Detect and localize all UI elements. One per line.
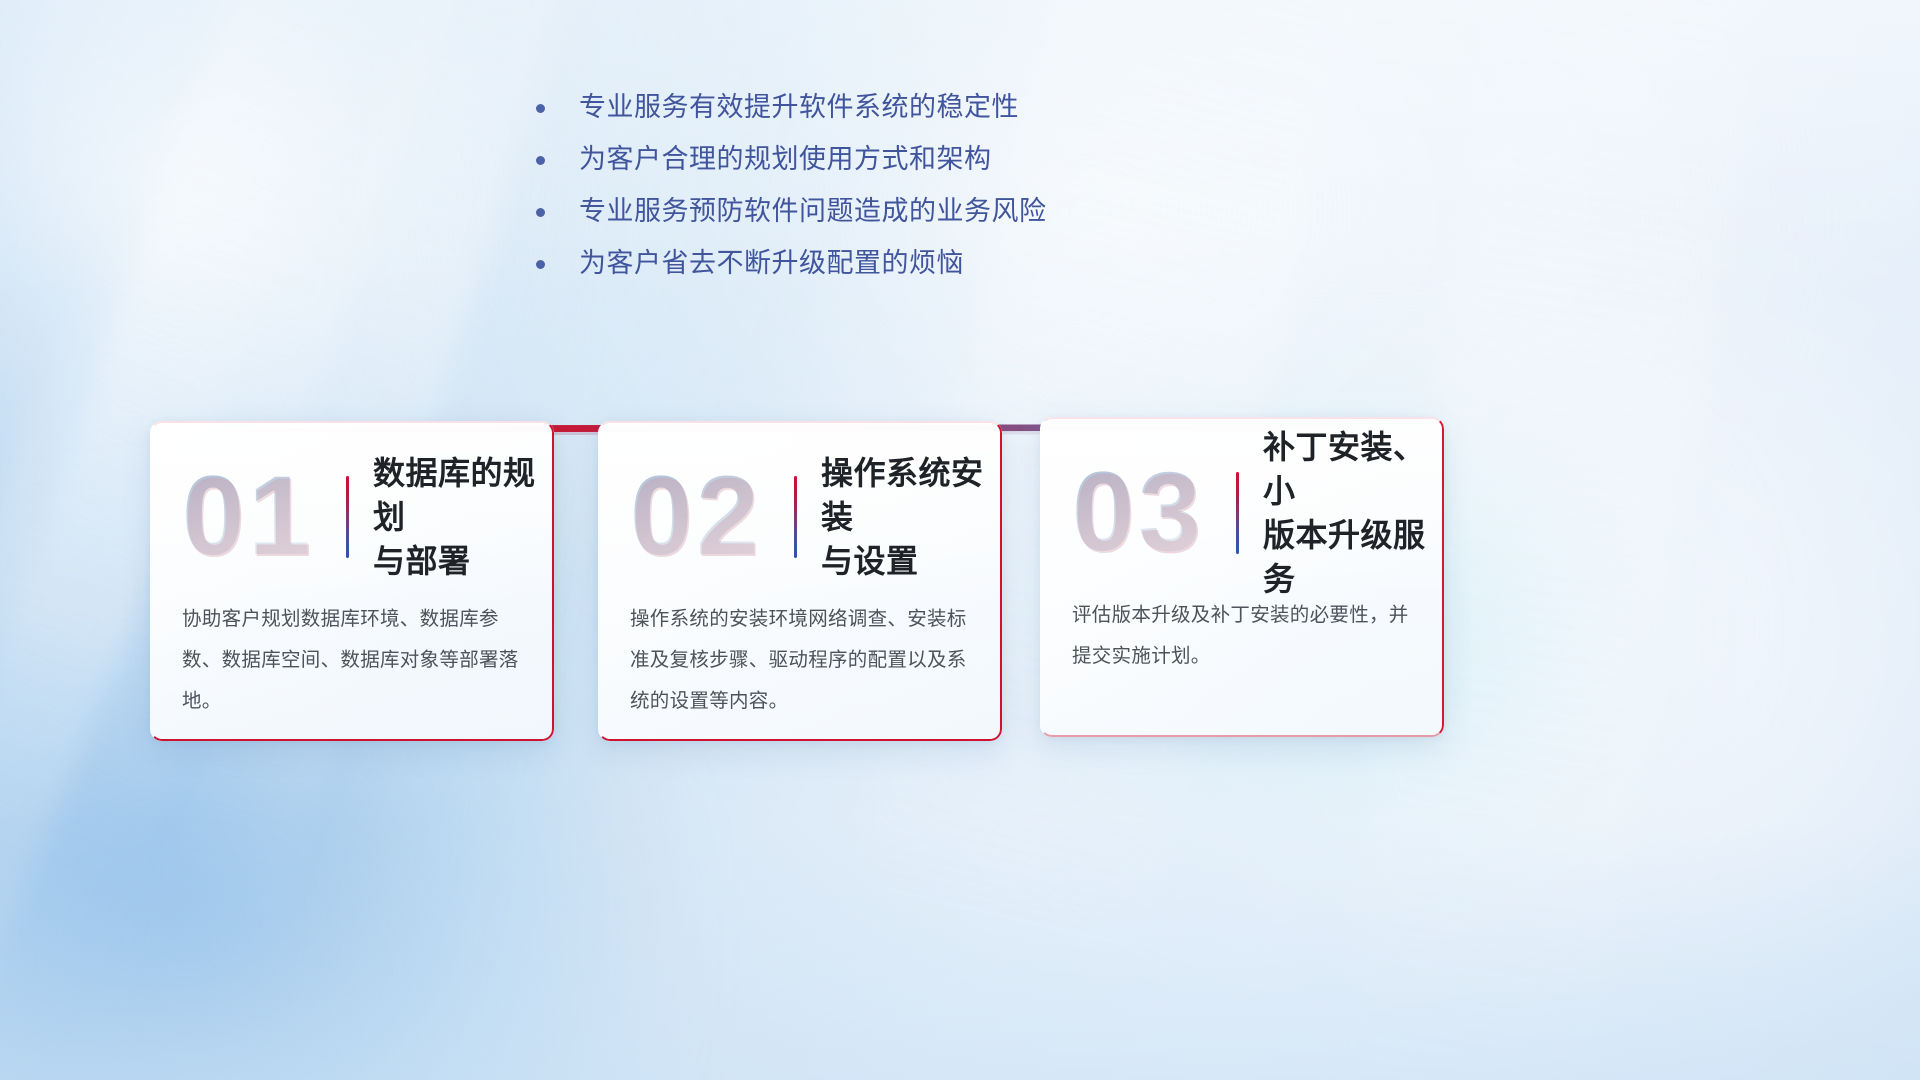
card-body-text: 操作系统的安装环境网络调查、安装标准及复核步骤、驱动程序的配置以及系统的设置等内…	[630, 599, 976, 722]
card-number-watermark: 02 02	[628, 462, 780, 572]
service-card-02[interactable]: 02 02 操作系统安装 与设置 操作系统的安装环境网络调查、安装标准及复核步骤…	[598, 421, 1002, 741]
card-accent-bar	[1236, 472, 1239, 554]
card-number-watermark: 03 03	[1070, 458, 1222, 568]
card-accent-bar	[346, 476, 349, 558]
card-accent-bar	[794, 476, 797, 558]
card-body-text: 协助客户规划数据库环境、数据库参数、数据库空间、数据库对象等部署落地。	[182, 599, 528, 722]
card-body-text: 评估版本升级及补丁安装的必要性，并提交实施计划。	[1072, 595, 1418, 677]
card-header: 02 02 操作系统安装 与设置	[598, 447, 1002, 587]
svg-text:01: 01	[184, 462, 317, 572]
service-card-03[interactable]: 03 03 补丁安装、小 版本升级服务 评估版本升级及补丁安装的必要性，并提交实…	[1040, 417, 1444, 737]
card-header: 03 03 补丁安装、小 版本升级服务	[1040, 443, 1444, 583]
service-card-01[interactable]: 01 01 数据库的规划 与部署 协助客户规划数据库环境、数据库参数、数据库空间…	[150, 421, 554, 741]
svg-text:03: 03	[1074, 458, 1207, 568]
service-card-group: 01 01 数据库的规划 与部署 协助客户规划数据库环境、数据库参数、数据库空间…	[0, 0, 1920, 1080]
card-title: 操作系统安装 与设置	[821, 451, 1002, 583]
card-header: 01 01 数据库的规划 与部署	[150, 447, 554, 587]
card-title: 数据库的规划 与部署	[373, 451, 554, 583]
card-title: 补丁安装、小 版本升级服务	[1263, 425, 1444, 601]
svg-text:02: 02	[632, 462, 765, 572]
card-number-watermark: 01 01	[180, 462, 332, 572]
